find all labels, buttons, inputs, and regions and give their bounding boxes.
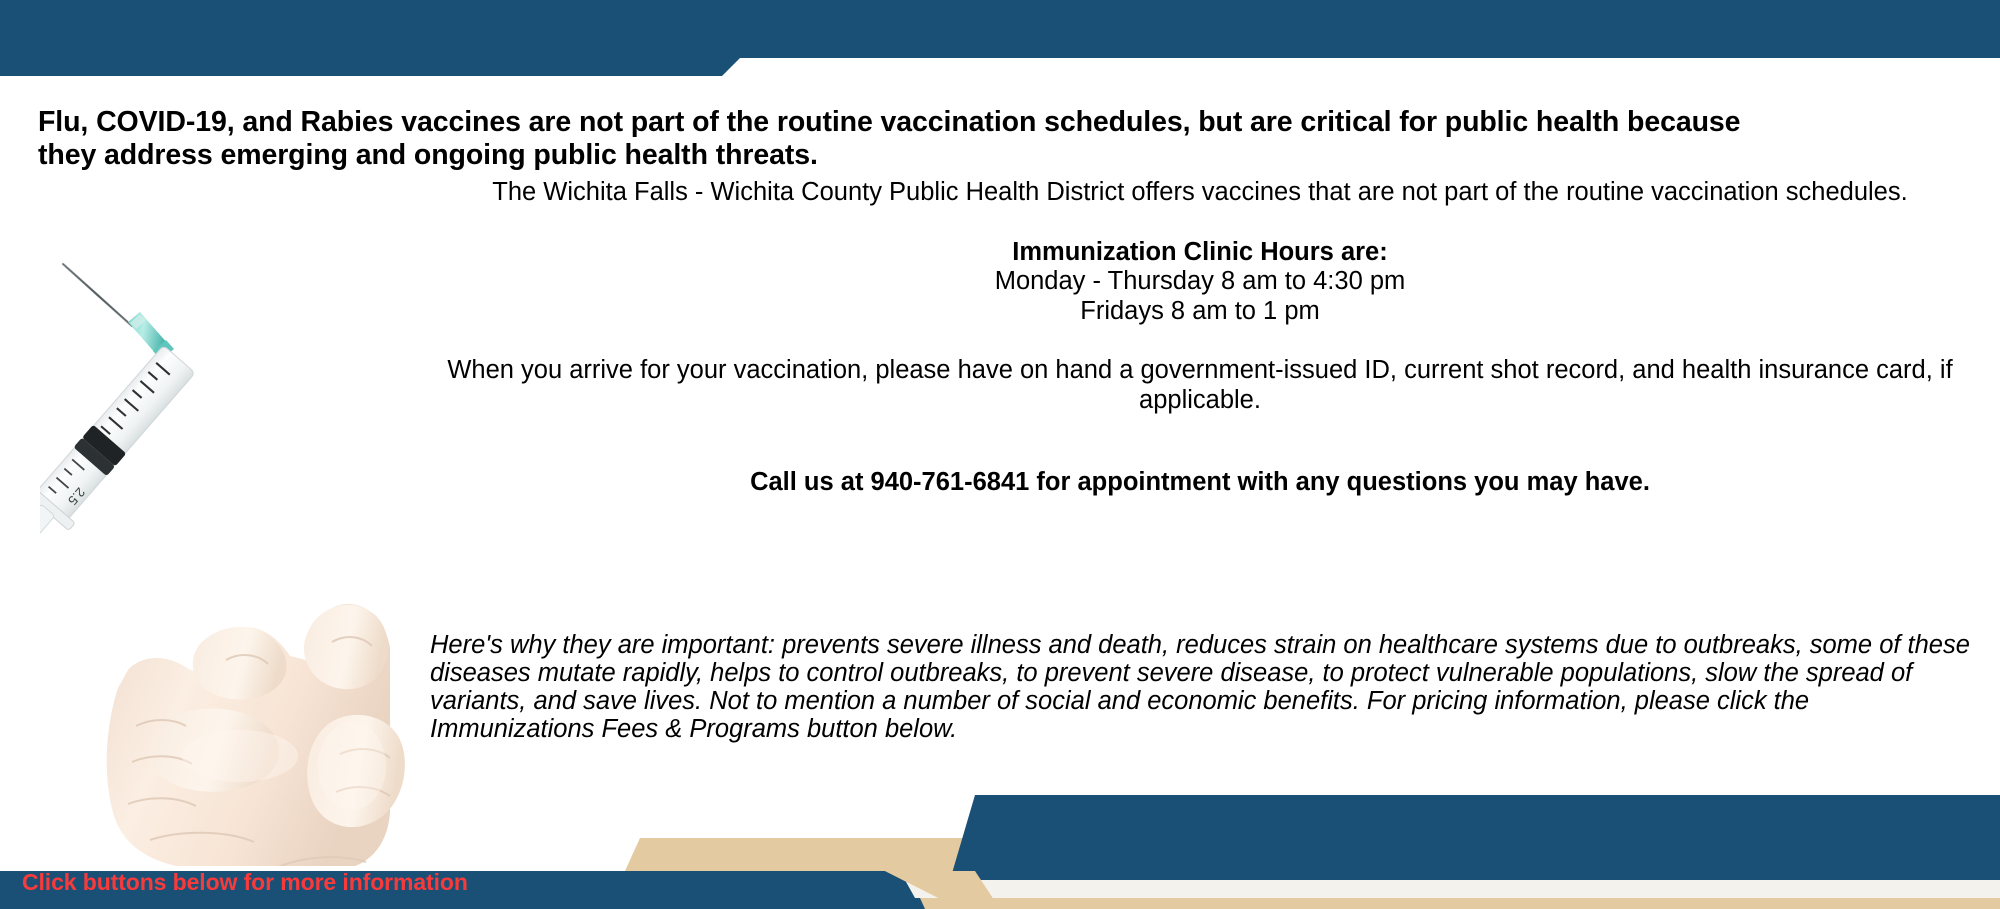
footer-navy-right-block bbox=[950, 795, 2000, 880]
click-buttons-note: Click buttons below for more information bbox=[22, 869, 468, 896]
clinic-hours-heading: Immunization Clinic Hours are: bbox=[430, 238, 1970, 268]
call-us-suffix: for appointment with any questions you m… bbox=[1029, 468, 1650, 496]
headline-line-1: Flu, COVID-19, and Rabies vaccines are n… bbox=[38, 106, 1740, 138]
footer-cream-stripe bbox=[905, 880, 2000, 898]
spacer bbox=[430, 415, 1970, 441]
clinic-hours-friday: Fridays 8 am to 1 pm bbox=[430, 297, 1970, 327]
gloved-hand-syringe-image: 2.5 bbox=[40, 256, 420, 866]
syringe-barrel: 2.5 bbox=[40, 340, 201, 607]
intro-paragraph: The Wichita Falls - Wichita County Publi… bbox=[430, 178, 1970, 208]
header-navy-band bbox=[0, 0, 2000, 76]
headline-line-2: they address emerging and ongoing public… bbox=[38, 139, 1968, 172]
spacer bbox=[430, 208, 1970, 238]
phone-number[interactable]: 940-761-6841 bbox=[871, 468, 1030, 496]
syringe-needle bbox=[63, 264, 132, 326]
page-headline: Flu, COVID-19, and Rabies vaccines are n… bbox=[38, 106, 1968, 172]
footer-tan-lower-band bbox=[920, 898, 2000, 909]
why-important-paragraph: Here's why they are important: prevents … bbox=[430, 631, 1970, 744]
arrival-note-paragraph: When you arrive for your vaccination, pl… bbox=[430, 356, 1970, 415]
spacer bbox=[430, 326, 1970, 356]
promo-banner-page: Flu, COVID-19, and Rabies vaccines are n… bbox=[0, 0, 2000, 909]
body-copy-column: The Wichita Falls - Wichita County Publi… bbox=[430, 178, 1970, 523]
gloved-hand bbox=[107, 604, 405, 866]
call-us-line: Call us at 940-761-6841 for appointment … bbox=[430, 467, 1970, 498]
main-content: Flu, COVID-19, and Rabies vaccines are n… bbox=[0, 76, 2000, 789]
clinic-hours-weekday: Monday - Thursday 8 am to 4:30 pm bbox=[430, 267, 1970, 297]
call-us-prefix: Call us at bbox=[750, 468, 870, 496]
